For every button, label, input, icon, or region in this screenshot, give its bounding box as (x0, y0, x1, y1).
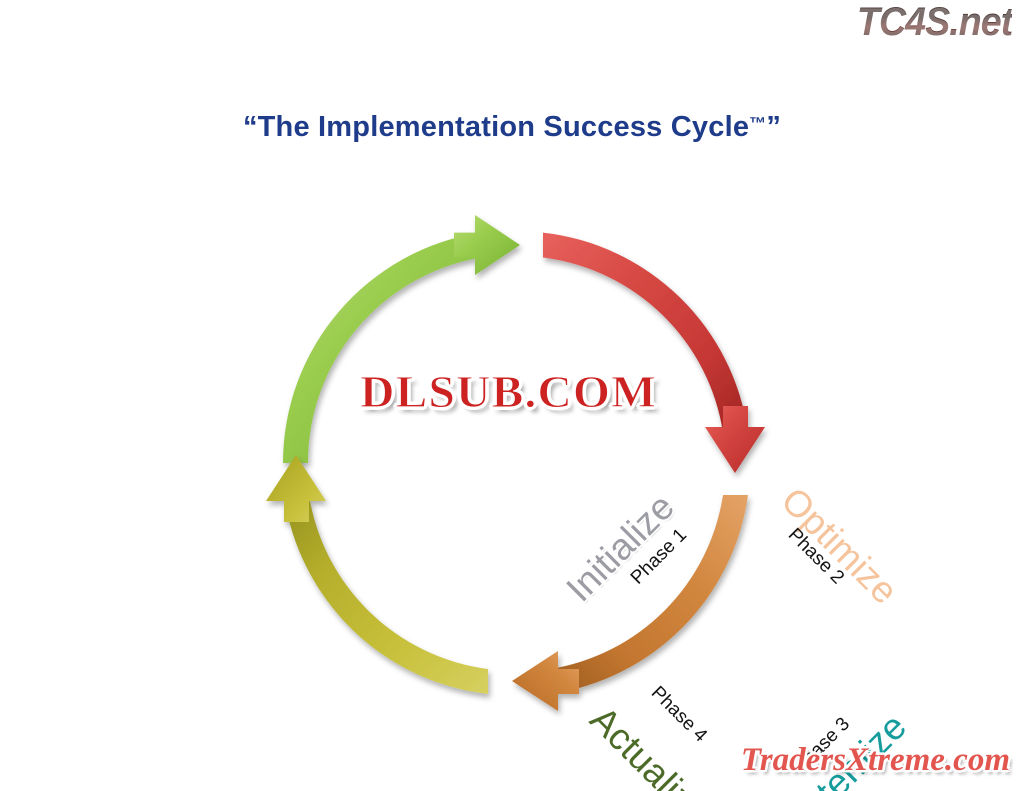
page-title: “The Implementation Success Cycle™” (0, 111, 1024, 144)
title-open-quote: “ (243, 111, 258, 143)
implementation-success-cycle-diagram: Initialize Phase 1 Optimize Phase 2 Syst… (258, 205, 774, 721)
footer-watermark: TradersXtreme.com (741, 742, 1010, 779)
arc-actualize (266, 455, 488, 694)
title-text: The Implementation Success Cycle (258, 111, 750, 143)
trademark-symbol: ™ (749, 114, 766, 133)
arc-initialize (283, 215, 520, 463)
brand-logo: TC4S.net (857, 2, 1012, 42)
arc-optimize (543, 233, 765, 473)
title-close-quote: ” (766, 111, 781, 143)
center-watermark: DLSUB.COM (360, 366, 657, 418)
slide-canvas: TC4S.net “The Implementation Success Cyc… (0, 0, 1024, 791)
